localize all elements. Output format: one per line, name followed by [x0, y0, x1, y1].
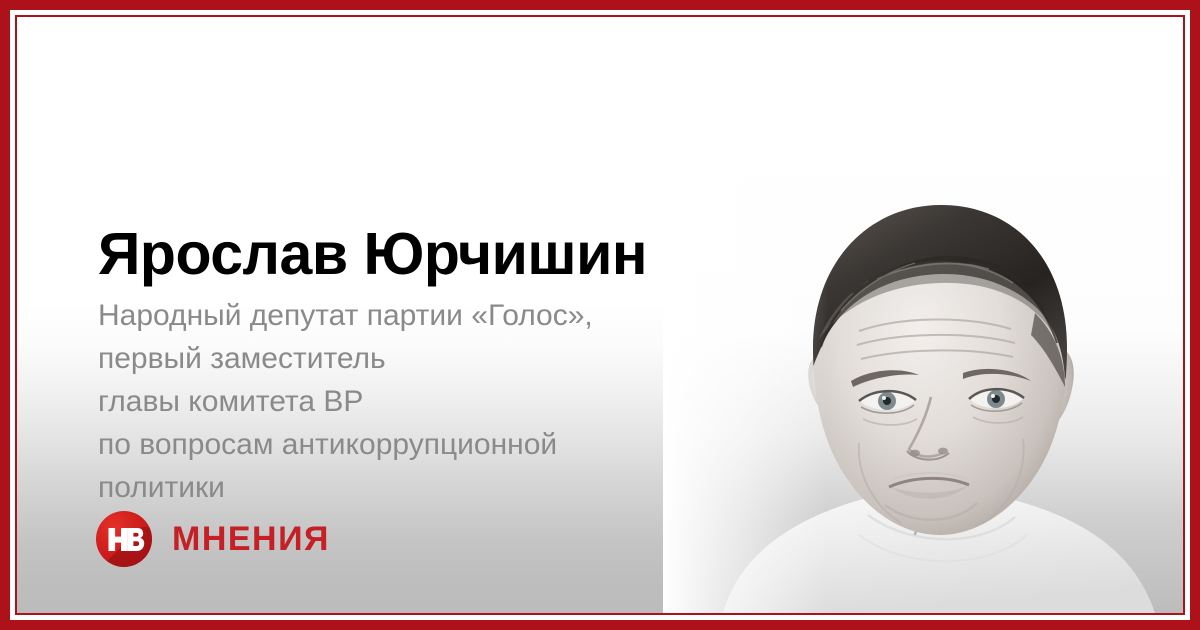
opinion-card: Ярослав Юрчишин Народный депутат партии … [0, 0, 1200, 630]
portrait-photo [663, 143, 1183, 613]
subtitle-line-2: первый заместитель [98, 337, 738, 380]
subtitle-line-4: по вопросам антикоррупционной [98, 423, 738, 466]
subtitle-block: Народный депутат партии «Голос», первый … [98, 294, 738, 509]
brand-word-mneniya: МНЕНИЯ [172, 511, 330, 567]
page-title: Ярослав Юрчишин [98, 222, 738, 286]
subtitle-line-1: Народный депутат партии «Голос», [98, 294, 738, 337]
brand-lockup: МНЕНИЯ [96, 511, 330, 567]
subtitle-line-5: политики [98, 466, 738, 509]
text-block: Ярослав Юрчишин Народный депутат партии … [98, 222, 738, 509]
nv-circle-logo-icon [96, 511, 152, 567]
subtitle-line-3: главы комитета ВР [98, 380, 738, 423]
